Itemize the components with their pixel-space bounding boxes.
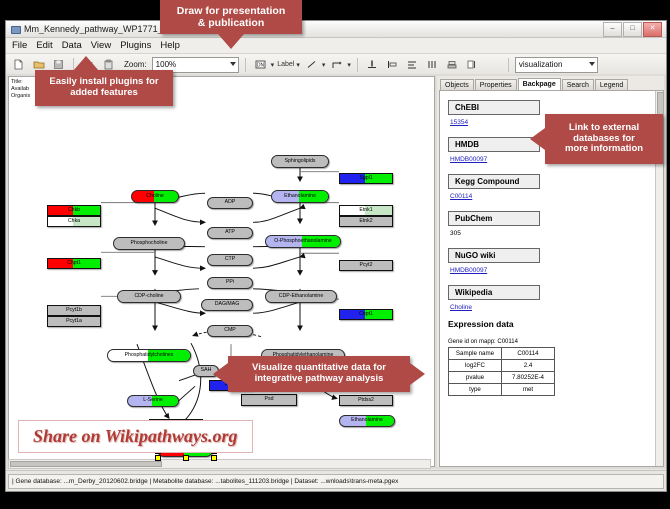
node-label: Psd — [265, 397, 274, 402]
gene-node-pcyt2[interactable]: Pcyt2 — [339, 260, 393, 271]
node-label: CDP-Ethanolamine — [279, 294, 323, 299]
db-value-wikipedia[interactable]: Choline — [450, 304, 657, 311]
gene-node-chkb[interactable]: Chkb — [47, 205, 101, 216]
node-label: SAH — [201, 368, 212, 373]
metabolite-node-ophosphoethanolamine[interactable]: O-Phosphoethanolamine — [265, 235, 341, 248]
chevron-down-icon-2[interactable]: ▾ — [271, 61, 275, 69]
pathway-canvas[interactable]: Title: Availab Organis — [8, 76, 435, 467]
node-value-overlay — [73, 206, 100, 215]
canvas-horizontal-scrollbar[interactable] — [8, 459, 431, 469]
metabolite-node-atp[interactable]: ATP — [207, 227, 253, 239]
metabolite-node-ppi[interactable]: PPi — [207, 277, 253, 289]
chevron-down-icon — [230, 62, 236, 66]
metabolite-node-lserine-left[interactable]: L-Serine — [127, 395, 179, 407]
gene-node-pcyt1b[interactable]: Pcyt1b — [47, 305, 101, 316]
expr-value: C00114 — [502, 348, 555, 360]
tab-properties[interactable]: Properties — [475, 79, 517, 90]
db-entry: PubChem305 — [448, 208, 657, 237]
expr-key: type — [449, 384, 502, 396]
distribute-vertical-icon[interactable] — [404, 56, 421, 73]
db-value-pubchem: 305 — [450, 230, 657, 237]
db-header-pubchem: PubChem — [448, 211, 540, 226]
visualization-value: visualization — [519, 60, 563, 69]
window-controls: – □ ✕ — [603, 22, 662, 37]
side-tabs[interactable]: ObjectsPropertiesBackpageSearchLegend — [437, 76, 664, 90]
node-label: CDP-choline — [134, 294, 163, 299]
tab-backpage[interactable]: Backpage — [518, 78, 561, 90]
datanode-icon[interactable]: DN — [252, 56, 269, 73]
new-file-icon[interactable] — [10, 56, 27, 73]
gene-node-sgpl1[interactable]: Sgpl1 — [339, 173, 393, 184]
datanode-tool-combo[interactable]: DN ▾ — [252, 56, 275, 73]
label-tool-text: Label — [277, 61, 294, 68]
node-label: Sphingolipids — [285, 159, 316, 164]
node-value-overlay — [148, 350, 190, 361]
selection-handle[interactable] — [211, 455, 217, 461]
chevron-down-icon-5[interactable]: ▾ — [347, 61, 351, 69]
zoom-label: Zoom: — [124, 60, 147, 69]
connector-icon[interactable] — [328, 56, 345, 73]
menu-file[interactable]: File — [12, 40, 27, 51]
chevron-down-icon-4[interactable]: ▾ — [322, 61, 326, 69]
node-value-overlay — [365, 206, 392, 215]
gene-node-cept1[interactable]: Cept1 — [339, 309, 393, 320]
callout-external-db-arrow — [530, 128, 545, 150]
node-value-overlay — [154, 191, 178, 202]
gene-id-label: Gene id on mapp: C00114 — [448, 339, 657, 345]
menu-bar: File Edit Data View Plugins Help — [6, 38, 666, 54]
menu-plugins[interactable]: Plugins — [120, 40, 151, 51]
zoom-value: 100% — [156, 60, 176, 69]
maximize-button[interactable]: □ — [623, 22, 642, 37]
gene-node-chka[interactable]: Chka — [47, 216, 101, 227]
metabolite-node-adp[interactable]: ADP — [207, 197, 253, 209]
canvas-scroll-thumb[interactable] — [10, 461, 162, 467]
callout-share: Share on Wikipathways.org — [18, 420, 253, 453]
order-tool-icon[interactable] — [464, 56, 481, 73]
node-label: CTP — [225, 257, 235, 262]
metabolite-node-ethanolamine2[interactable]: Ethanolamine — [339, 415, 395, 427]
align-top-icon[interactable] — [364, 56, 381, 73]
expr-key: Sample name — [449, 348, 502, 360]
db-header-chebi: ChEBI — [448, 100, 540, 115]
toolbar-separator-2 — [245, 58, 246, 72]
callout-external-db: Link to external databases for more info… — [545, 114, 663, 164]
callout-plugins-arrow — [73, 56, 99, 71]
metabolite-node-ethanolamine1[interactable]: Ethanolamine — [271, 190, 329, 203]
node-label: Ptdss2 — [358, 398, 374, 403]
toolbar-separator-4 — [508, 58, 509, 72]
callout-plugins: Easily install plugins for added feature… — [35, 70, 173, 106]
selection-handle[interactable] — [155, 455, 161, 461]
metabolite-node-dagmag[interactable]: DAG/MAG — [201, 299, 253, 311]
db-entry: WikipediaCholine — [448, 282, 657, 311]
callout-quantitative-arrow-right — [410, 363, 425, 385]
metabolite-node-phosphatidylcholines[interactable]: Phosphatidylcholines — [107, 349, 191, 362]
chevron-down-icon-6 — [589, 62, 595, 66]
title-bar: Mm_Kennedy_pathway_WP1771_45176.gpml – □… — [6, 21, 666, 38]
expr-value: met — [502, 384, 555, 396]
tab-search[interactable]: Search — [562, 79, 594, 90]
node-label: PPi — [226, 280, 234, 285]
minimize-button[interactable]: – — [603, 22, 622, 37]
metabolite-node-sphingolipids[interactable]: Sphingolipids — [271, 155, 329, 168]
node-label: Pcyt1a — [66, 319, 82, 324]
metabolite-node-phosphocholine[interactable]: Phosphocholine — [113, 237, 185, 250]
node-label: Phosphocholine — [131, 241, 168, 246]
gene-node-chpt1[interactable]: Chpt1 — [47, 258, 101, 269]
node-value-overlay — [365, 174, 392, 183]
pathway-drawing[interactable]: Title: Availab Organis — [9, 77, 434, 466]
expression-heading: Expression data — [448, 319, 657, 329]
menu-data[interactable]: Data — [62, 40, 82, 51]
db-header-wikipedia: Wikipedia — [448, 285, 540, 300]
stack-tool-icon[interactable] — [444, 56, 461, 73]
node-label: CMP — [224, 328, 236, 333]
db-entry: Kegg CompoundC00114 — [448, 171, 657, 200]
expr-value: 2.4 — [502, 360, 555, 372]
metabolite-node-cmp[interactable]: CMP — [207, 325, 253, 337]
chevron-down-icon-3[interactable]: ▾ — [296, 61, 300, 69]
node-label: Pcyt1b — [66, 308, 82, 313]
expr-value: 7.80252E-4 — [502, 372, 555, 384]
db-value-nugo-wiki[interactable]: HMDB00097 — [450, 267, 657, 274]
callout-publication-arrow — [218, 34, 244, 49]
expr-key: pvalue — [449, 372, 502, 384]
screenshot-root: Mm_Kennedy_pathway_WP1771_45176.gpml – □… — [0, 0, 670, 509]
expression-table: Sample nameC00114log2FC2.4pvalue7.80252E… — [448, 347, 555, 396]
metabolite-node-choline-top[interactable]: Choline — [131, 190, 179, 203]
db-entry: NuGO wikiHMDB00097 — [448, 245, 657, 274]
connector-tool-combo[interactable]: ▾ — [328, 56, 351, 73]
table-row: typemet — [449, 384, 555, 396]
tab-objects[interactable]: Objects — [440, 79, 474, 90]
menu-help[interactable]: Help — [160, 40, 180, 51]
node-value-overlay — [73, 217, 100, 226]
status-text: | Gene database: ...m_Derby_20120602.bri… — [8, 474, 664, 489]
expr-key: log2FC — [449, 360, 502, 372]
gene-node-ptdss2[interactable]: Ptdss2 — [339, 395, 393, 406]
pathway-edges — [9, 77, 434, 466]
db-header-hmdb: HMDB — [448, 137, 540, 152]
gene-node-etnk2[interactable]: Etnk2 — [339, 216, 393, 227]
toolbar-separator-3 — [357, 58, 358, 72]
node-label: ATP — [225, 230, 235, 235]
node-label: Etnk2 — [359, 219, 372, 224]
menu-edit[interactable]: Edit — [36, 40, 52, 51]
metabolite-node-ctp[interactable]: CTP — [207, 254, 253, 266]
menu-view[interactable]: View — [91, 40, 111, 51]
node-label: DAG/MAG — [215, 302, 240, 307]
selection-handle[interactable] — [183, 455, 189, 461]
db-header-kegg-compound: Kegg Compound — [448, 174, 540, 189]
node-value-overlay — [152, 396, 178, 406]
gene-node-etnk1[interactable]: Etnk1 — [339, 205, 393, 216]
distribute-horizontal-icon[interactable] — [424, 56, 441, 73]
label-tool-combo[interactable]: Label ▾ — [277, 61, 300, 69]
gene-node-psd[interactable]: Psd — [241, 394, 297, 406]
node-value-overlay — [73, 259, 100, 268]
app-icon — [10, 24, 20, 34]
node-value-overlay — [366, 416, 394, 426]
visualization-combo[interactable]: visualization — [515, 57, 598, 73]
table-row: pvalue7.80252E-4 — [449, 372, 555, 384]
node-label: ADP — [225, 200, 236, 205]
callout-quantitative-arrow-left — [213, 363, 228, 385]
node-value-overlay — [299, 191, 328, 202]
metabolite-node-cdp-choline[interactable]: CDP-choline — [117, 290, 181, 303]
close-button[interactable]: ✕ — [643, 22, 662, 37]
svg-text:DN: DN — [257, 63, 265, 69]
align-left-icon[interactable] — [384, 56, 401, 73]
table-row: Sample nameC00114 — [449, 348, 555, 360]
table-row: log2FC2.4 — [449, 360, 555, 372]
db-value-kegg-compound[interactable]: C00114 — [450, 193, 657, 200]
status-bar: | Gene database: ...m_Derby_20120602.bri… — [6, 470, 666, 491]
line-icon[interactable] — [303, 56, 320, 73]
node-value-overlay — [302, 236, 340, 247]
node-value-overlay — [365, 310, 392, 319]
node-label: Pcyt2 — [360, 263, 373, 268]
line-tool-combo[interactable]: ▾ — [303, 56, 326, 73]
metabolite-node-cdp-ethanolamine[interactable]: CDP-Ethanolamine — [265, 290, 337, 303]
db-header-nugo-wiki: NuGO wiki — [448, 248, 540, 263]
callout-publication: Draw for presentation & publication — [160, 0, 302, 34]
tab-legend[interactable]: Legend — [595, 79, 628, 90]
gene-node-pcyt1a[interactable]: Pcyt1a — [47, 316, 101, 327]
callout-quantitative: Visualize quantitative data for integrat… — [228, 356, 410, 392]
